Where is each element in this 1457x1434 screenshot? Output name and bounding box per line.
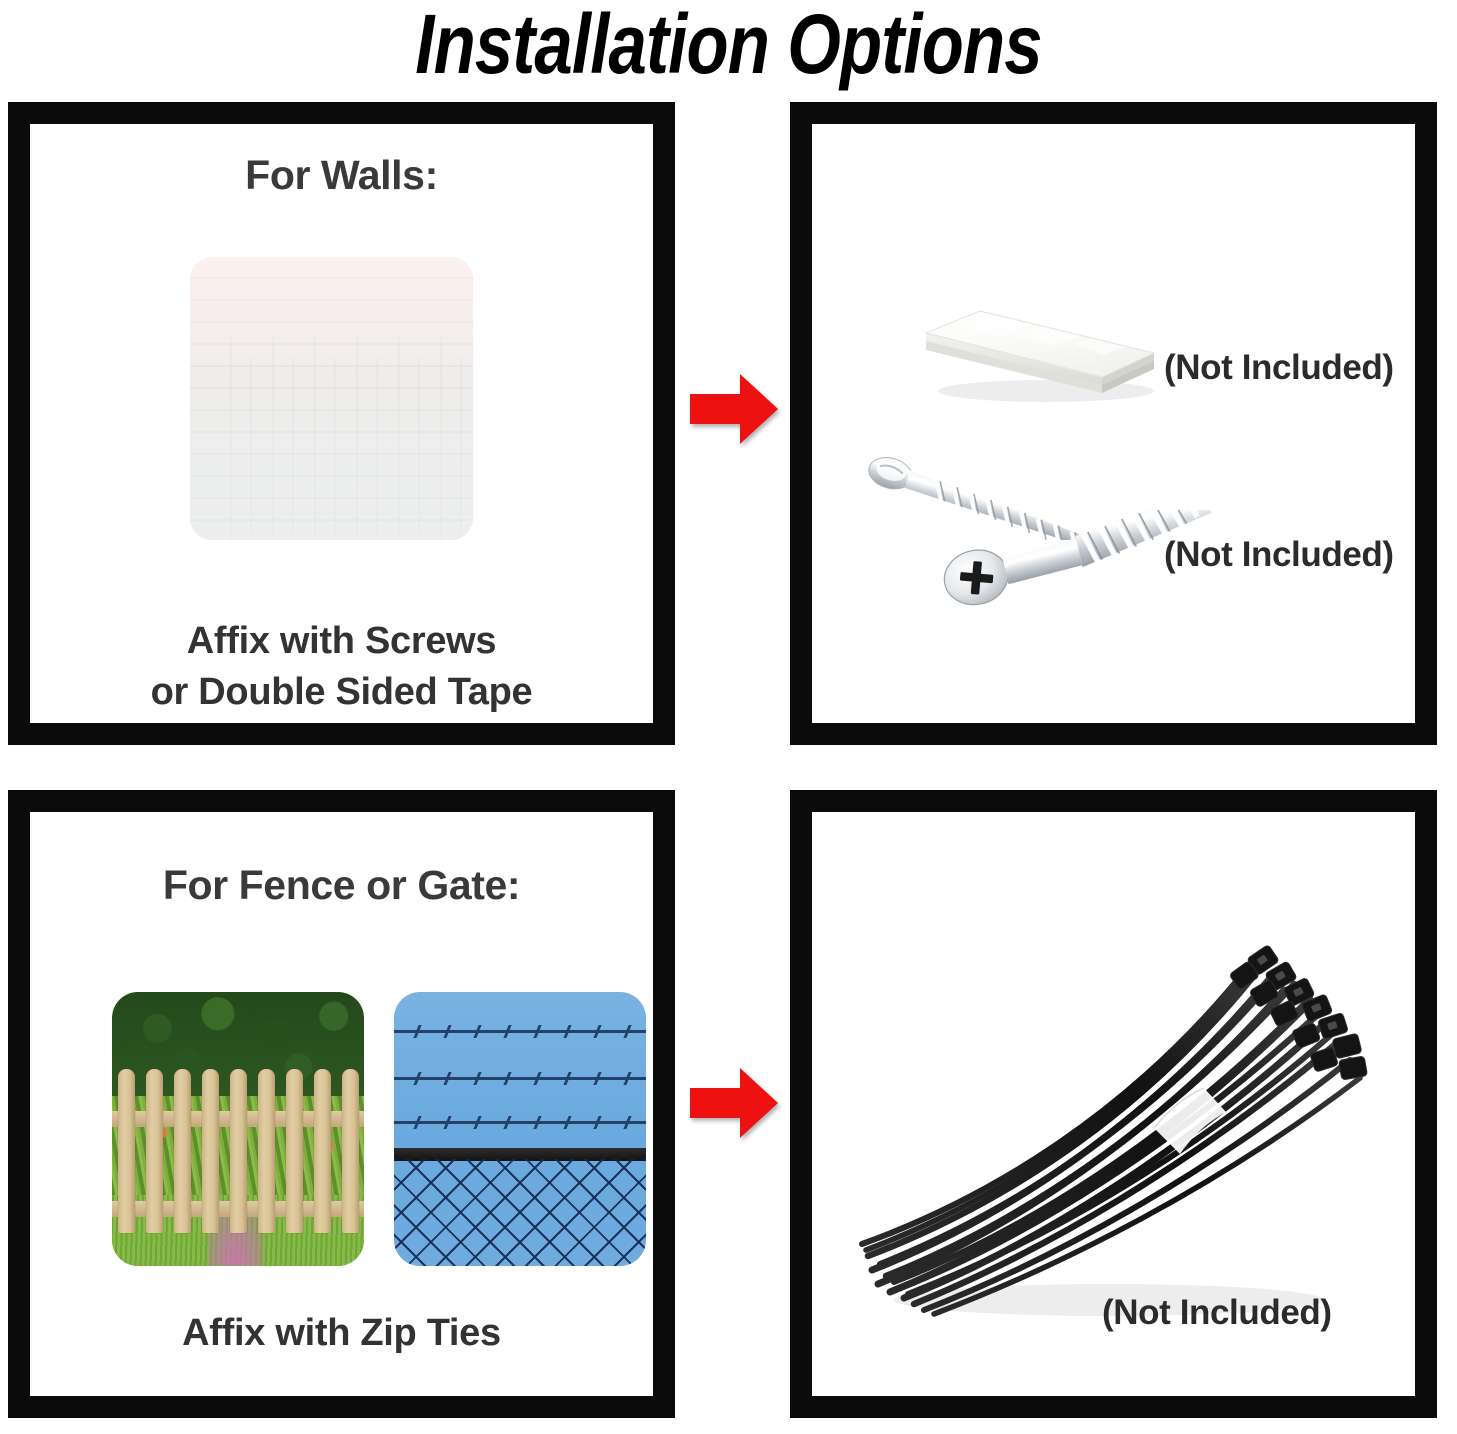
red-right-arrow-icon	[688, 1064, 780, 1142]
barbed-wire-strand	[394, 1030, 646, 1033]
panel-for-fence-or-gate: For Fence or Gate:	[8, 790, 675, 1418]
fence-picket	[258, 1069, 275, 1233]
wooden-picket-fence-photo	[112, 992, 364, 1266]
panel-zip-ties: (Not Included)	[790, 790, 1437, 1418]
panel-for-walls-body: For Walls: Affix with Screws or Double S…	[30, 124, 653, 723]
fence-picket	[146, 1069, 163, 1233]
fence-picket	[342, 1069, 359, 1233]
red-right-arrow-icon	[688, 370, 780, 448]
barbed-wire-strand	[394, 1121, 646, 1124]
black-zip-ties-bundle-image	[854, 932, 1374, 1332]
fence-picket	[230, 1069, 247, 1233]
for-fence-or-gate-heading: For Fence or Gate:	[30, 862, 653, 909]
fence-picket	[202, 1069, 219, 1233]
panel-wall-hardware-body: (Not Included)	[812, 124, 1415, 723]
brick-sheen	[190, 257, 473, 540]
for-walls-heading: For Walls:	[30, 152, 653, 199]
panel-zip-ties-body: (Not Included)	[812, 812, 1415, 1396]
barbed-wire-chain-link-fence-photo	[394, 992, 646, 1266]
for-walls-caption-line1: Affix with Screws	[30, 616, 653, 667]
for-fence-caption: Affix with Zip Ties	[30, 1308, 653, 1359]
fence-picket	[286, 1069, 303, 1233]
screws-not-included-label: (Not Included)	[1164, 535, 1394, 575]
barbed-wire-strand	[394, 1077, 646, 1080]
panel-for-fence-or-gate-body: For Fence or Gate:	[30, 812, 653, 1396]
fence-picket	[314, 1069, 331, 1233]
fence-picket	[174, 1069, 191, 1233]
zip-ties-not-included-label: (Not Included)	[1102, 1293, 1332, 1333]
double-sided-tape-stack-image	[906, 241, 1172, 404]
panel-for-walls: For Walls: Affix with Screws or Double S…	[8, 102, 675, 745]
fence-picket	[118, 1069, 135, 1233]
fence-pickets	[112, 1069, 364, 1233]
white-brick-wall-swatch	[190, 257, 473, 540]
panel-wall-hardware: (Not Included)	[790, 102, 1437, 745]
page-title: Installation Options	[131, 0, 1326, 93]
chain-link-mesh	[394, 1159, 646, 1266]
for-walls-caption-line2: or Double Sided Tape	[30, 667, 653, 718]
tape-not-included-label: (Not Included)	[1164, 348, 1394, 388]
for-walls-caption: Affix with Screws or Double Sided Tape	[30, 616, 653, 717]
